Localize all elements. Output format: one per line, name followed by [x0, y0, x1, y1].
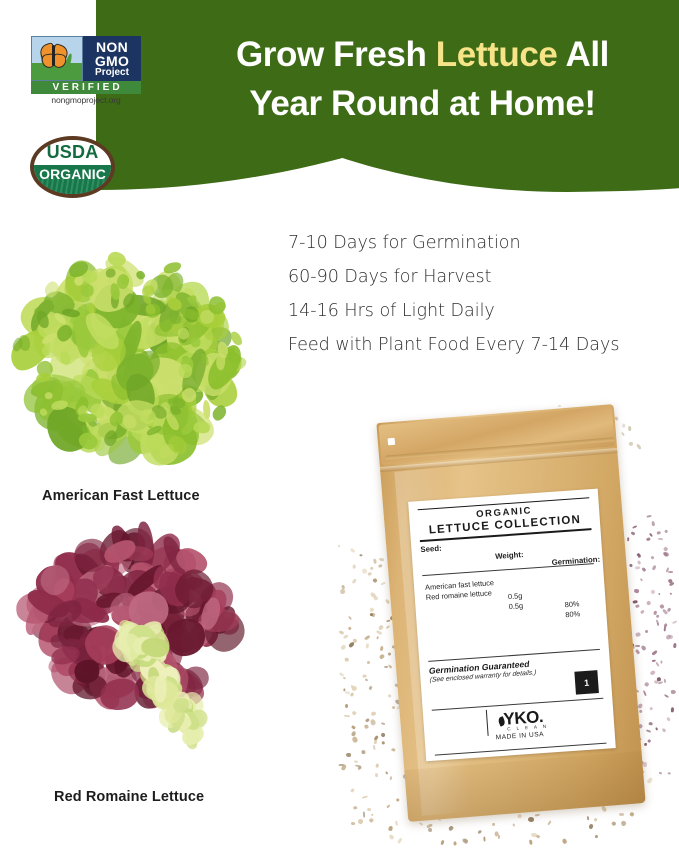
- column-header-seed: Seed:: [420, 543, 442, 553]
- non-gmo-line-3: Project: [95, 68, 129, 78]
- growing-info-item: 7-10 Days for Germination: [288, 226, 668, 260]
- growing-info-item: Feed with Plant Food Every 7-14 Days: [288, 328, 668, 362]
- non-gmo-verified-bar: VERIFIED: [31, 81, 141, 94]
- non-gmo-line-1: NON: [96, 40, 128, 54]
- non-gmo-project-verified-badge: NON GMO Project VERIFIED nongmoproject.o…: [31, 36, 141, 98]
- headline-highlight: Lettuce: [436, 35, 558, 74]
- american-fast-lettuce-caption: American Fast Lettuce: [42, 488, 200, 504]
- usda-organic-seal: USDA ORGANIC: [30, 136, 115, 198]
- non-gmo-url: nongmoproject.org: [31, 95, 141, 105]
- tear-notch-icon: [388, 438, 396, 446]
- american-fast-lettuce-photo: [8, 243, 246, 471]
- seed-packet: ORGANIC LETTUCE COLLECTION Seed: Weight:…: [376, 404, 645, 822]
- table-cell-germination: 80%: [564, 599, 579, 609]
- packet-label: ORGANIC LETTUCE COLLECTION Seed: Weight:…: [408, 489, 616, 762]
- growing-info-list: 7-10 Days for Germination 60-90 Days for…: [288, 226, 668, 362]
- quantity-badge-value: 1: [584, 677, 590, 687]
- quantity-badge: 1: [574, 670, 599, 695]
- page-headline: Grow Fresh Lettuce All Year Round at Hom…: [170, 30, 675, 128]
- organic-label: ORGANIC: [39, 166, 106, 182]
- red-romaine-lettuce-caption: Red Romaine Lettuce: [54, 789, 204, 805]
- butterfly-grass-icon: [31, 36, 83, 81]
- column-header-germination: Germination:: [551, 554, 600, 566]
- label-seed-rows: American fast lettuce Red romaine lettuc…: [423, 569, 598, 633]
- column-header-weight: Weight:: [495, 550, 524, 561]
- red-romaine-lettuce-photo: [20, 528, 270, 768]
- growing-info-item: 14-16 Hrs of Light Daily: [288, 294, 668, 328]
- made-in-usa-text: MADE IN USA: [496, 731, 545, 741]
- headline-line-2: Year Round at Home!: [249, 84, 595, 123]
- non-gmo-line-2: GMO: [95, 54, 129, 68]
- table-cell-weight: 0.5g: [508, 601, 523, 611]
- table-cell-weight: 0.5g: [508, 591, 523, 601]
- growing-info-item: 60-90 Days for Harvest: [288, 260, 668, 294]
- seed-packet-product-photo: ORGANIC LETTUCE COLLECTION Seed: Weight:…: [330, 395, 679, 849]
- headline-text-2: All: [557, 35, 609, 74]
- usda-label: USDA: [47, 142, 99, 163]
- table-cell-germination: 80%: [565, 609, 580, 619]
- headline-text-1: Grow Fresh: [236, 35, 436, 74]
